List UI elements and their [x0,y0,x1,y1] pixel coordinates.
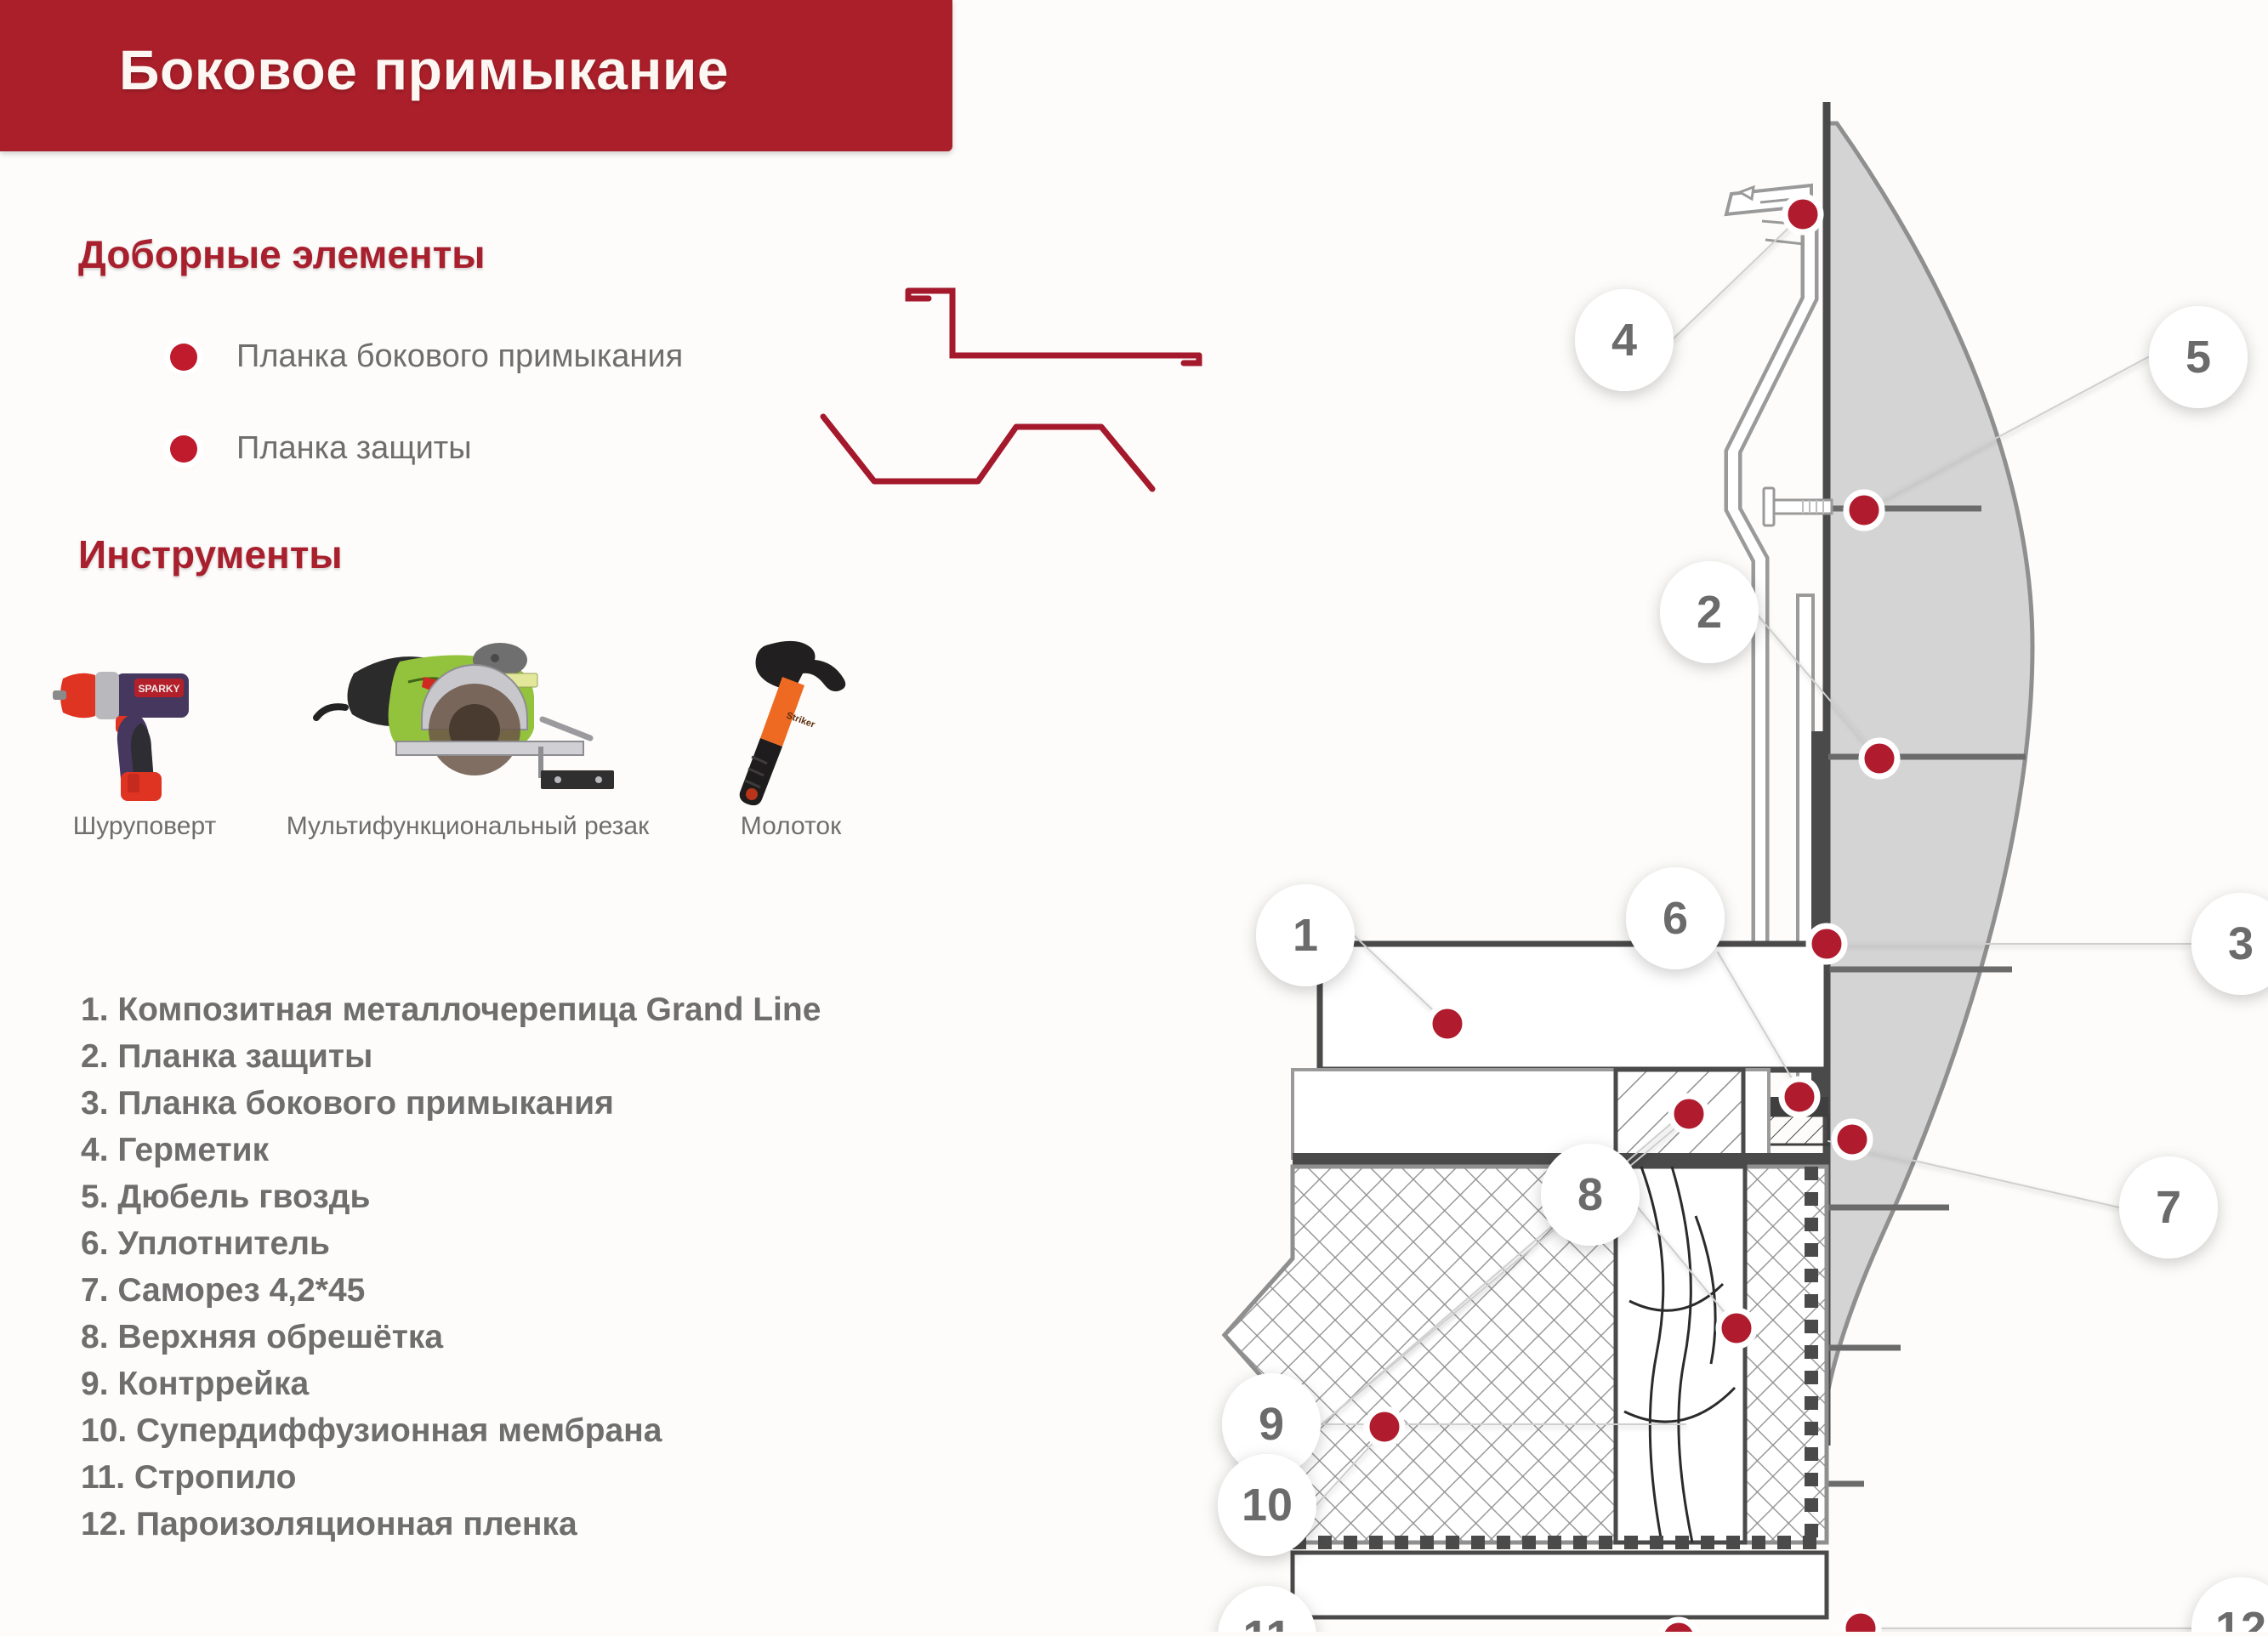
accessories-heading: Доборные элементы [78,231,486,277]
bullet-dot-icon [170,344,197,371]
poster-root: Боковое примыкание Доборные элементы Пла… [0,0,2268,1632]
tool-item-2: Striker Молоток [680,629,901,841]
circular-saw-icon [272,629,663,808]
callout-label-1: 1 [1293,910,1318,961]
legend-item: 10. Супердиффузионная мембрана [81,1407,821,1454]
page-title: Боковое примыкание [119,37,729,102]
legend-item: 5. Дюбель гвоздь [81,1173,821,1220]
cordless-drill-icon: SPARKY [34,629,255,808]
callout-label-5: 5 [2186,332,2211,383]
tool-item-0: SPARKY Шуруповерт [34,629,255,841]
accessory-label-0: Планка бокового примыкания [236,338,683,375]
svg-text:SPARKY: SPARKY [138,683,179,695]
legend-item: 8. Верхняя обрешётка [81,1314,821,1360]
accessory-label-1: Планка защиты [236,430,472,467]
callout-label-2: 2 [1697,587,1722,638]
bullet-dot-icon [170,435,197,463]
tool-item-1: Мультифункциональный резак [272,629,663,841]
tools-heading: Инструменты [78,531,343,577]
legend-list: 1. Композитная металлочерепица Grand Lin… [81,986,821,1548]
legend-item: 7. Саморез 4,2*45 [81,1267,821,1314]
legend-item: 4. Герметик [81,1127,821,1173]
callout-label-11: 11 [1242,1611,1291,1632]
callout-label-10: 10 [1242,1480,1293,1531]
legend-item: 2. Планка защиты [81,1033,821,1080]
protection-strip-profile [816,408,1174,506]
hammer-icon: Striker [680,629,901,808]
legend-item: 11. Стропило [81,1454,821,1501]
legend-item: 12. Пароизоляционная пленка [81,1501,821,1548]
accessory-item-1: Планка защиты [170,430,472,467]
legend-item: 9. Контррейка [81,1360,821,1407]
tool-label-1: Мультифункциональный резак [272,811,663,841]
callout-label-8: 8 [1577,1169,1603,1220]
dowel-nail [1764,488,1832,525]
legend-item: 3. Планка бокового примыкания [81,1080,821,1127]
callout-label-9: 9 [1259,1399,1284,1450]
callout-label-7: 7 [2156,1182,2181,1233]
ceiling-finish-board [1293,1553,1827,1632]
cross-section-diagram: 1 2 3 4 5 6 7 8 9 [1131,85,2268,1636]
callout-label-3: 3 [2228,918,2254,969]
callout-label-6: 6 [1663,893,1688,944]
accessory-item-0: Планка бокового примыкания [170,338,683,375]
insulation-and-rafter [1225,1167,1827,1542]
wall-section [1825,102,2032,1484]
callout-label-4: 4 [1611,315,1637,366]
tool-label-0: Шуруповерт [34,811,255,841]
callout-label-12: 12 [2215,1603,2266,1632]
svg-text:Striker: Striker [785,711,817,730]
legend-item: 1. Композитная металлочерепица Grand Lin… [81,986,821,1033]
header-banner: Боковое примыкание [0,0,952,151]
tool-label-2: Молоток [680,811,901,841]
legend-item: 6. Уплотнитель [81,1220,821,1267]
